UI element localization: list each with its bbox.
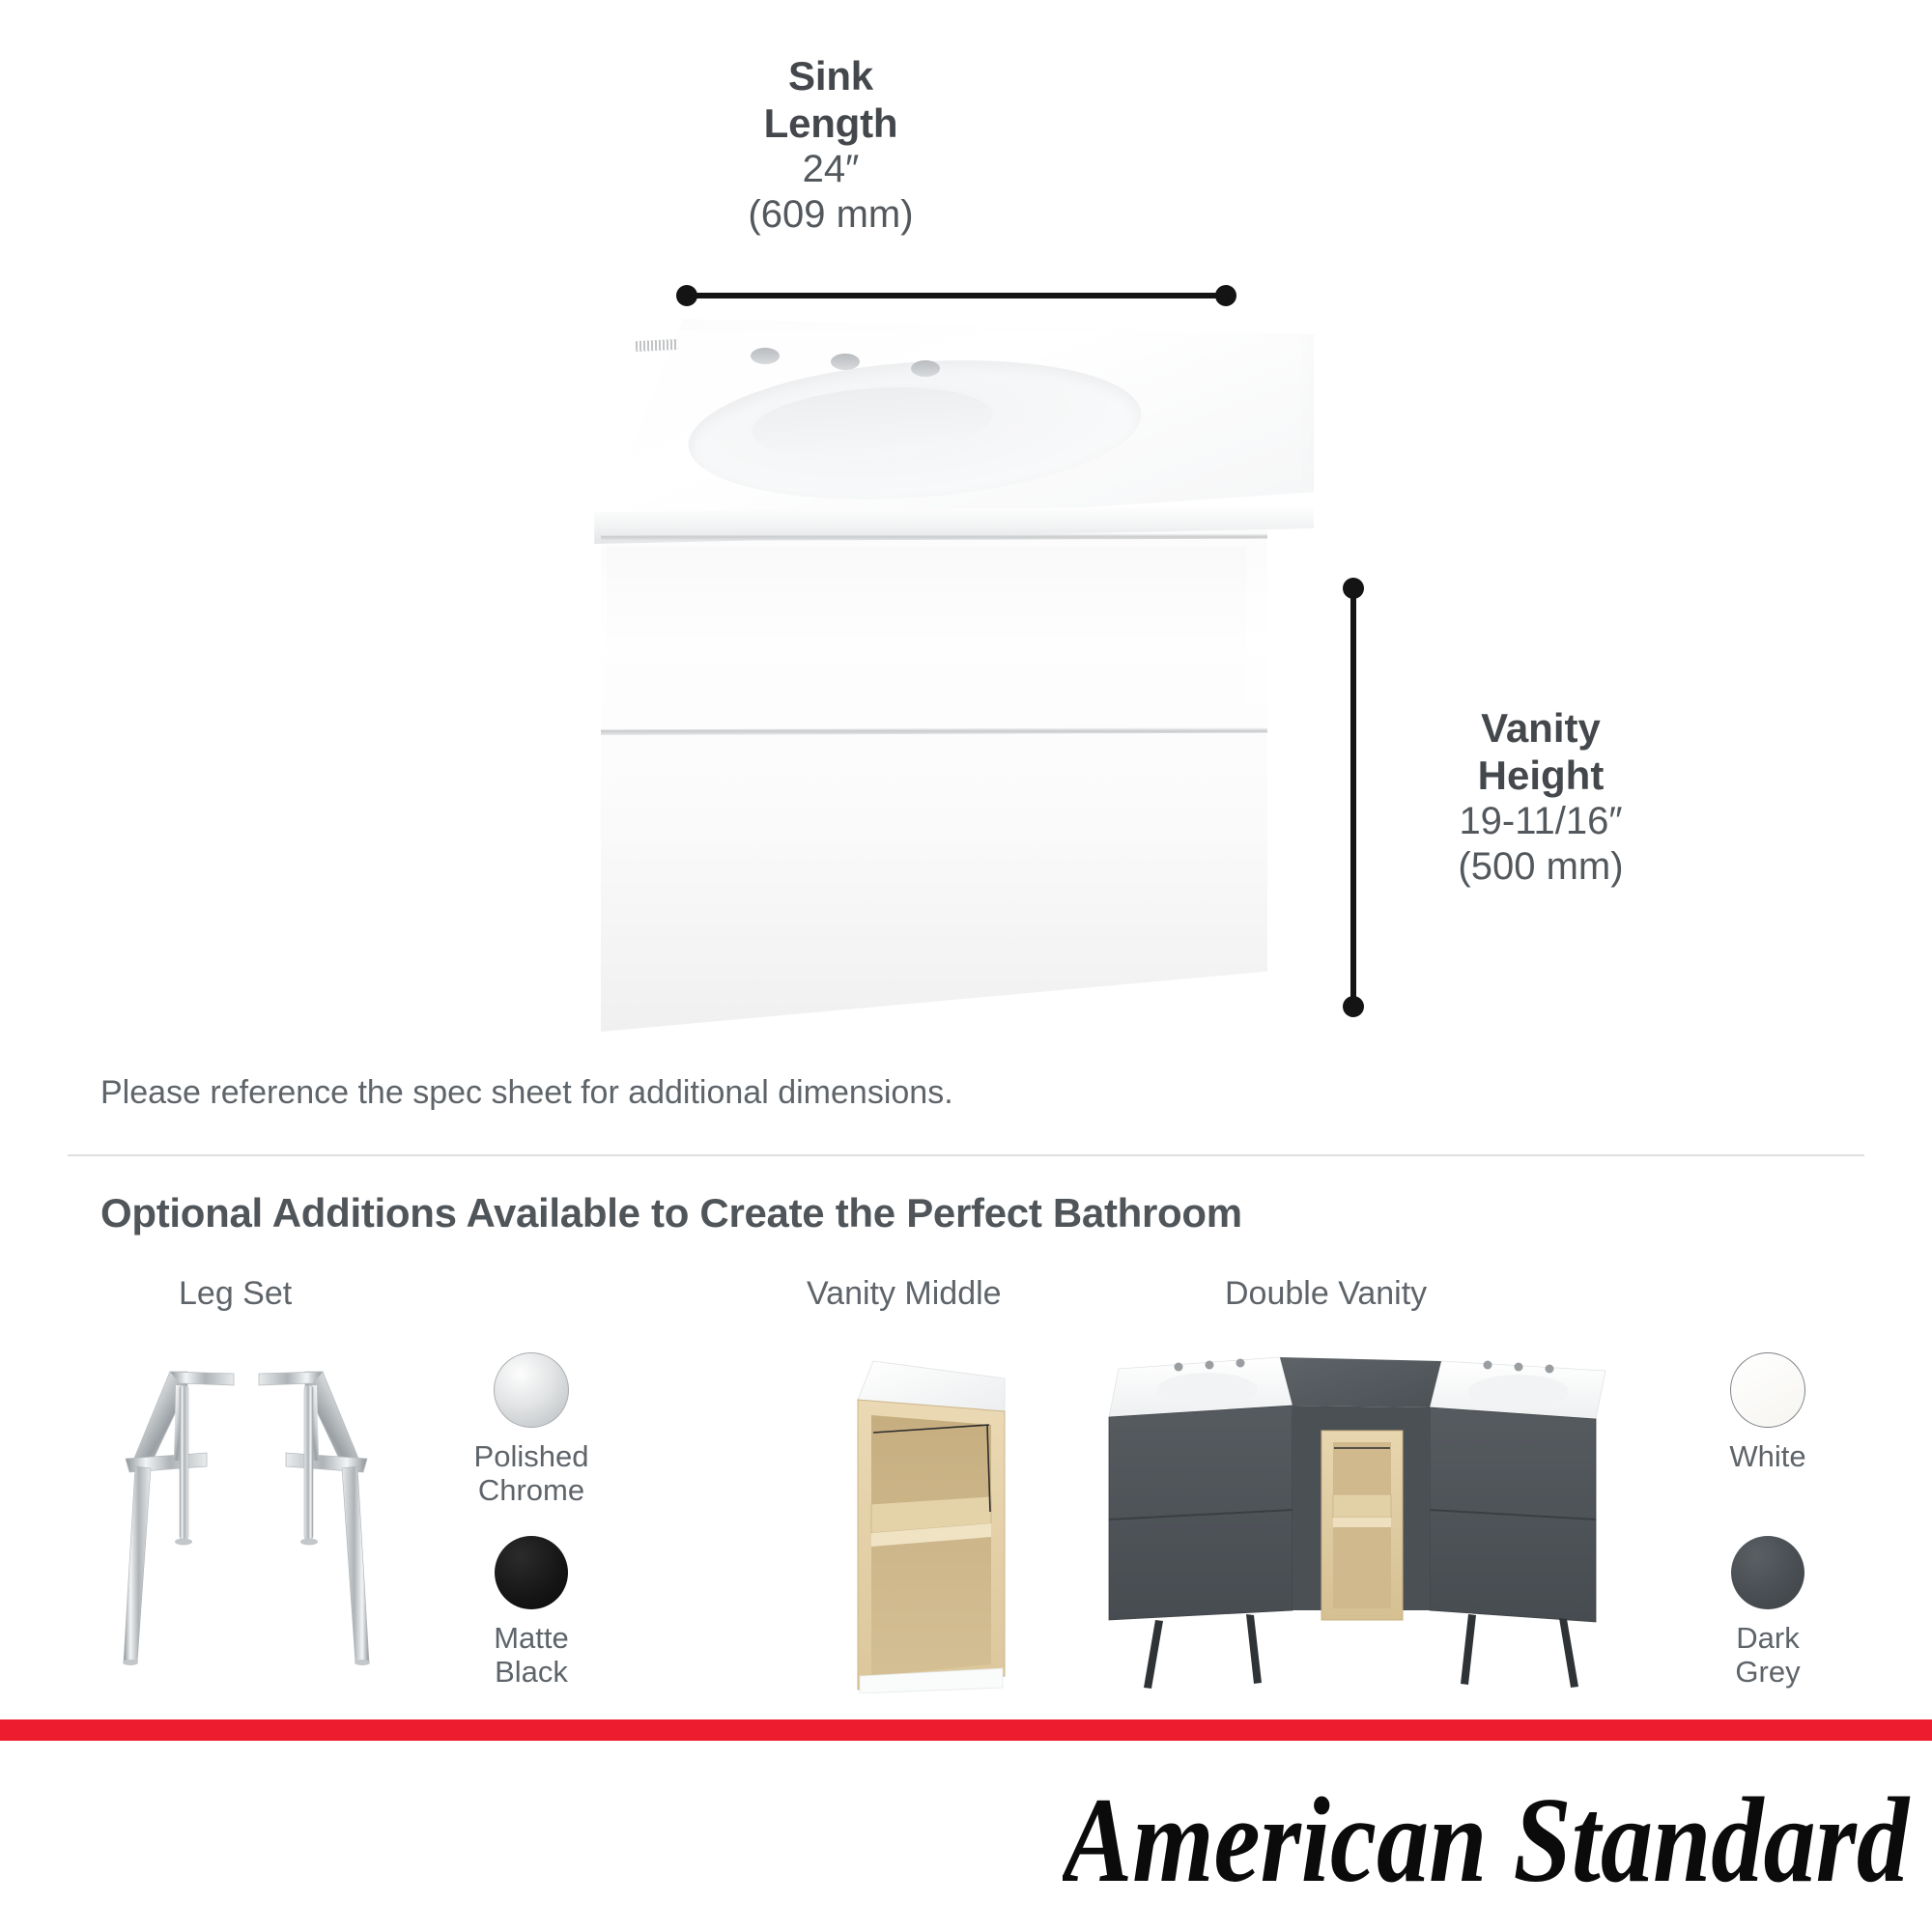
leg-front-left — [1144, 1620, 1163, 1689]
center-wood-drawer — [1333, 1494, 1391, 1518]
right-faucet-hole-2 — [1515, 1363, 1523, 1372]
polished-chrome-swatch-icon[interactable] — [494, 1352, 569, 1428]
cabinet-shading — [607, 547, 1246, 740]
column-title-double-vanity: Double Vanity — [1225, 1275, 1427, 1313]
american-standard-logo-svg: American Standard — [1063, 1773, 1913, 1918]
faucet-hole-center — [831, 354, 860, 370]
vanity-height-mm: (500 mm) — [1381, 844, 1700, 889]
sink-top — [580, 319, 1314, 541]
dimension-endpoint-dot-bottom — [1343, 996, 1364, 1017]
vanity-height-dimension-line — [1343, 578, 1364, 1017]
dark-grey-label-line2: Grey — [1676, 1655, 1860, 1689]
sink-length-mm: (609 mm) — [676, 192, 985, 237]
right-basin — [1468, 1375, 1569, 1409]
right-faucet-hole-1 — [1484, 1361, 1492, 1370]
sink-length-dimension-line — [676, 285, 1236, 306]
color-swatch-white[interactable]: White — [1676, 1352, 1860, 1473]
matte-black-swatch-icon[interactable] — [495, 1536, 568, 1609]
vanity-middle-illustration — [850, 1357, 1014, 1690]
white-swatch-icon[interactable] — [1730, 1352, 1805, 1428]
finish-swatch-matte-black[interactable]: Matte Black — [440, 1536, 623, 1690]
vanity-product-image — [580, 319, 1314, 1034]
leg-set-illustration — [116, 1343, 377, 1671]
left-faucet-hole-3 — [1236, 1359, 1245, 1368]
optional-additions-heading: Optional Additions Available to Create t… — [100, 1190, 1242, 1236]
middle-unit-cavity — [871, 1415, 991, 1676]
dark-grey-label-line1: Dark — [1676, 1621, 1860, 1655]
matte-black-label-line2: Black — [440, 1655, 623, 1689]
vanity-height-inches: 19-11/16″ — [1381, 799, 1700, 843]
leg-set-svg — [116, 1343, 377, 1671]
spec-illustration-page: Sink Length 24″ (609 mm) Vanity Height 1… — [0, 0, 1932, 1932]
leg-back-right — [1559, 1618, 1578, 1688]
dimension-line-bar — [684, 293, 1229, 298]
right-faucet-hole-3 — [1546, 1365, 1554, 1374]
polished-chrome-label-line2: Chrome — [440, 1473, 623, 1507]
column-title-vanity-middle: Vanity Middle — [807, 1275, 1002, 1313]
matte-black-label-line1: Matte — [440, 1621, 623, 1655]
double-vanity-illustration — [1101, 1348, 1642, 1695]
left-faucet-hole-2 — [1206, 1361, 1214, 1370]
left-faucet-hole-1 — [1175, 1363, 1183, 1372]
leg-front-right — [1461, 1614, 1476, 1685]
column-title-leg-set: Leg Set — [179, 1275, 292, 1313]
dark-grey-swatch-icon[interactable] — [1731, 1536, 1804, 1609]
sink-deck-brand-mark — [636, 339, 679, 352]
spec-sheet-note: Please reference the spec sheet for addi… — [100, 1074, 953, 1112]
vanity-height-title-line1: Vanity — [1381, 705, 1700, 753]
center-module-top — [1280, 1357, 1441, 1407]
american-standard-wordmark: American Standard — [1063, 1774, 1911, 1908]
vanity-cabinet — [601, 529, 1267, 1032]
american-standard-logo: American Standard — [1063, 1773, 1913, 1918]
vanity-middle-svg — [850, 1357, 1014, 1693]
double-vanity-svg — [1101, 1348, 1642, 1697]
center-wood-shelf — [1333, 1518, 1391, 1527]
color-swatch-dark-grey[interactable]: Dark Grey — [1676, 1536, 1860, 1690]
leg-back-left — [1246, 1614, 1262, 1684]
left-cabinet — [1109, 1406, 1293, 1620]
sink-length-label: Sink Length 24″ (609 mm) — [676, 53, 985, 237]
dimension-line-bar-vertical — [1350, 587, 1356, 1008]
sink-length-inches: 24″ — [676, 147, 985, 191]
sink-length-title-line2: Length — [676, 100, 985, 148]
faucet-hole-left — [751, 348, 780, 364]
vanity-height-title-line2: Height — [1381, 753, 1700, 800]
vanity-height-label: Vanity Height 19-11/16″ (500 mm) — [1381, 705, 1700, 889]
left-basin — [1157, 1373, 1258, 1407]
dimension-endpoint-dot-right — [1215, 285, 1236, 306]
faucet-hole-right — [911, 360, 940, 377]
sink-length-title-line1: Sink — [676, 53, 985, 100]
section-divider — [68, 1154, 1864, 1156]
brand-accent-bar — [0, 1719, 1932, 1741]
white-label-line1: White — [1676, 1439, 1860, 1473]
polished-chrome-label-line1: Polished — [440, 1439, 623, 1473]
finish-swatch-polished-chrome[interactable]: Polished Chrome — [440, 1352, 623, 1508]
